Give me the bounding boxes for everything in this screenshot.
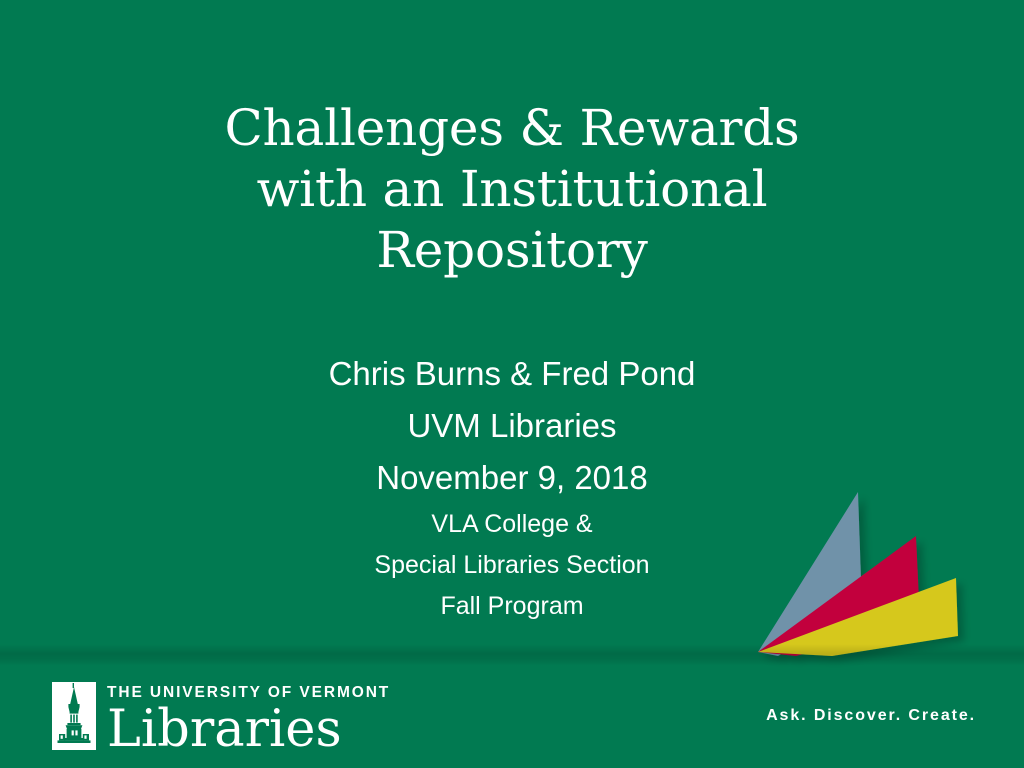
uvm-tower-icon	[52, 682, 96, 750]
title-line-2: with an Institutional	[90, 159, 934, 220]
fan-ribbon-graphic	[736, 470, 1024, 670]
subtitle-presenters: Chris Burns & Fred Pond	[0, 348, 1024, 400]
brand-tagline: Ask. Discover. Create.	[766, 707, 976, 725]
subtitle-organization: UVM Libraries	[0, 400, 1024, 452]
slide-title: Challenges & Rewards with an Institution…	[0, 98, 1024, 281]
title-line-3: Repository	[90, 220, 934, 281]
uvm-libraries-logo: THE UNIVERSITY OF VERMONT Libraries	[52, 682, 390, 756]
title-slide: Challenges & Rewards with an Institution…	[0, 0, 1024, 768]
title-line-1: Challenges & Rewards	[90, 98, 934, 159]
logo-wordmark: Libraries	[107, 703, 390, 756]
logo-text-group: THE UNIVERSITY OF VERMONT Libraries	[107, 682, 390, 756]
